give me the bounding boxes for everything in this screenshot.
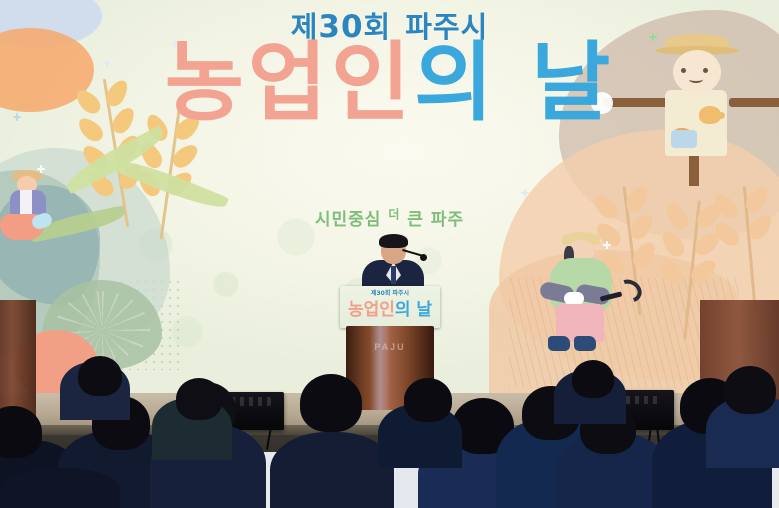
audience-member <box>176 378 222 420</box>
slogan-small: 더 <box>388 207 400 221</box>
sickle-icon <box>600 282 640 308</box>
podium-sign-title: 농업인의 날 <box>340 295 440 320</box>
podium-title-blue: 의 날 <box>395 300 432 320</box>
audience-member <box>78 356 122 396</box>
headline-part-blue: 의 날 <box>414 33 614 133</box>
banner-slogan: 시민중심 더 큰 파주 <box>0 205 779 230</box>
photo-scene: 제30회파주시 농업인의 날 시민중심 더 큰 파주 제30회 파주시 농업인의… <box>0 0 779 508</box>
sparkle-icon <box>600 238 614 252</box>
banner-headline: 농업인의 날 <box>0 40 779 126</box>
audience-member <box>0 468 120 508</box>
farmer-with-sickle-illustration <box>536 232 632 354</box>
sparkle-icon <box>34 162 48 176</box>
podium-sign: 제30회 파주시 농업인의 날 <box>340 286 440 328</box>
audience-member <box>572 360 614 398</box>
podium-title-pink: 농업인 <box>348 300 395 320</box>
podium-highlight <box>370 326 390 410</box>
slogan-tail: 큰 파주 <box>407 210 464 230</box>
audience-member <box>300 374 362 432</box>
podium-logo: PAJU <box>346 342 434 352</box>
audience-member <box>404 378 452 422</box>
audience-member <box>724 366 776 414</box>
microphone-icon <box>420 254 427 261</box>
audience-member <box>270 432 394 508</box>
slogan-lead: 시민중심 <box>315 210 382 230</box>
sparkle-icon <box>518 186 532 200</box>
headline-part-pink: 농업인 <box>165 33 414 133</box>
